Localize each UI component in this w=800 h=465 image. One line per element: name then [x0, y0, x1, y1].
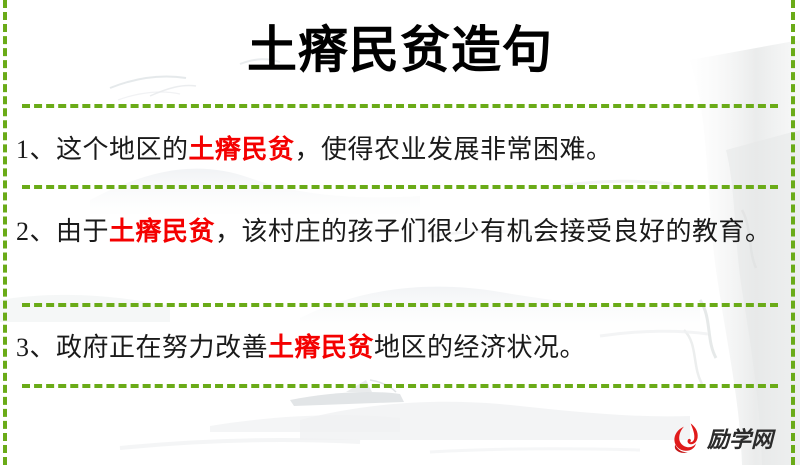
red-swirl-flame-icon [668, 420, 704, 456]
sentence-worksheet-page: 土瘠民贫造句 1、这个地区的土瘠民贫，使得农业发展非常困难。 2、由于土瘠民贫，… [0, 0, 800, 465]
divider-after-sentence-1 [22, 185, 778, 189]
sentence-1-number: 1、 [16, 135, 56, 164]
page-title: 土瘠民贫造句 [0, 17, 800, 83]
sentence-item-3: 3、政府正在努力改善土瘠民贫地区的经济状况。 [16, 326, 772, 370]
sentence-item-1: 1、这个地区的土瘠民贫，使得农业发展非常困难。 [16, 128, 772, 172]
divider-after-sentence-3 [22, 384, 778, 388]
sentence-3-text-after: 地区的经济状况。 [374, 333, 586, 362]
sentence-item-2: 2、由于土瘠民贫，该村庄的孩子们很少有机会接受良好的教育。 [16, 210, 772, 254]
divider-below-title [22, 104, 778, 108]
sentence-3-number: 3、 [16, 333, 56, 362]
sentence-1-text-after: ，使得农业发展非常困难。 [295, 135, 613, 164]
sentence-2-text-after: ，该村庄的孩子们很少有机会接受良好的教育。 [215, 217, 772, 246]
sentence-2-text-before: 由于 [56, 217, 109, 246]
sentence-1-keyword: 土瘠民贫 [189, 135, 295, 164]
divider-after-sentence-2 [22, 303, 778, 307]
sentence-2-number: 2、 [16, 217, 56, 246]
sentence-3-text-before: 政府正在努力改善 [56, 333, 268, 362]
site-watermark-label: 励学网 [707, 422, 773, 454]
sentence-1-text-before: 这个地区的 [56, 135, 189, 164]
site-watermark-logo: 励学网 [668, 418, 772, 458]
sentence-2-keyword: 土瘠民贫 [109, 217, 215, 246]
sentence-3-keyword: 土瘠民贫 [268, 333, 374, 362]
